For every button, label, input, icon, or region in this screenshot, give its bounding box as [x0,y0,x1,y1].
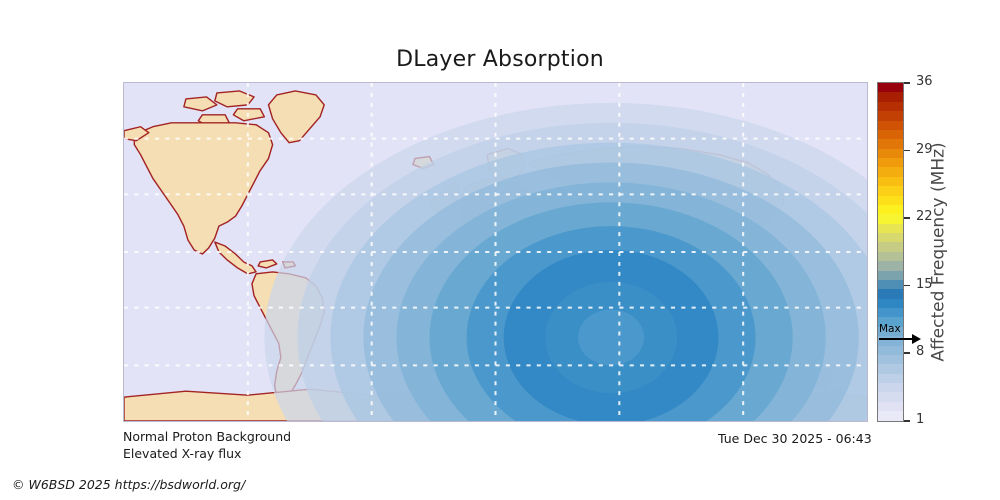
status-line-1: Normal Proton Background [123,428,291,445]
colorbar-band [878,364,903,373]
colorbar-tick-mark [904,82,910,84]
colorbar-band [878,130,903,139]
colorbar-title: Affected Frequency (MHz) [928,82,950,422]
colorbar-band [878,355,903,364]
colorbar-band [878,261,903,270]
colorbar-band [878,186,903,195]
colorbar-band [878,346,903,355]
footer-credit: © W6BSD 2025 https://bsdworld.org/ [12,477,245,492]
colorbar-band [878,196,903,205]
colorbar-band [878,111,903,120]
colorbar-band [878,271,903,280]
colorbar-band [878,92,903,101]
colorbar-band [878,383,903,392]
page-title: DLayer Absorption [0,47,1000,72]
colorbar-gradient [877,82,904,422]
max-annotation-arrowhead [912,334,921,344]
dlayer-absorption-page: DLayer Absorption [0,0,1000,500]
timestamp: Tue Dec 30 2025 - 06:43 [718,431,872,446]
colorbar-tick-label: 8 [916,344,924,360]
colorbar-band [878,102,903,111]
colorbar-band [878,214,903,223]
colorbar-band [878,177,903,186]
colorbar-band [878,402,903,411]
colorbar-band [878,167,903,176]
colorbar-band [878,374,903,383]
colorbar-tick-label: 1 [916,412,924,428]
colorbar-band [878,149,903,158]
colorbar-band [878,242,903,251]
max-annotation-arrow [879,338,913,340]
colorbar-tick-mark [904,285,910,287]
colorbar-band [878,299,903,308]
status-line-2: Elevated X-ray flux [123,445,291,462]
colorbar-band [878,224,903,233]
colorbar-band [878,392,903,401]
colorbar-tick-mark [904,420,910,422]
colorbar-band [878,252,903,261]
map-canvas [124,83,867,421]
colorbar-tick-mark [904,150,910,152]
colorbar-band [878,411,903,420]
world-map[interactable] [123,82,868,422]
colorbar-tick-mark [904,217,910,219]
colorbar-band [878,233,903,242]
colorbar-tick-mark [904,352,910,354]
colorbar-band [878,158,903,167]
colorbar-band [878,289,903,298]
colorbar-band [878,280,903,289]
max-annotation-label: Max [879,323,901,335]
colorbar-title-text: Affected Frequency (MHz) [929,142,949,361]
colorbar-band [878,308,903,317]
colorbar-band [878,83,903,92]
map-svg [124,83,867,421]
colorbar-band [878,121,903,130]
colorbar[interactable]: 1815222936 Max [877,82,904,422]
colorbar-band [878,139,903,148]
colorbar-band [878,205,903,214]
status-text: Normal Proton Background Elevated X-ray … [123,428,291,462]
